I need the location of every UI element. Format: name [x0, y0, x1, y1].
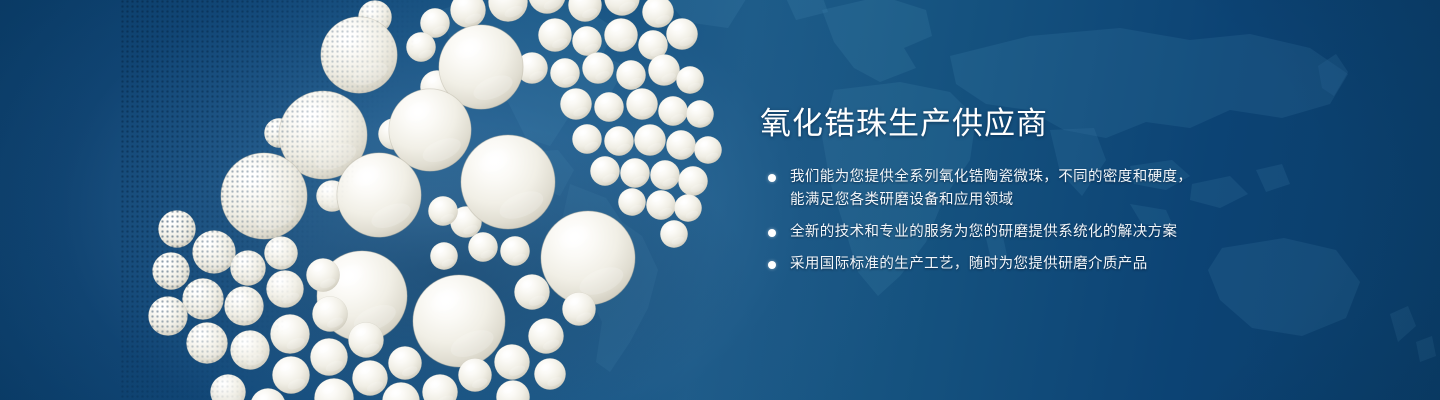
banner-copy-block: 氧化锆珠生产供应商 我们能为您提供全系列氧化锆陶瓷微珠，不同的密度和硬度， 能满… [760, 104, 1380, 276]
bullet-item: 我们能为您提供全系列氧化锆陶瓷微珠，不同的密度和硬度， 能满足您各类研磨设备和应… [760, 166, 1380, 212]
bullet-text-line-1: 我们能为您提供全系列氧化锆陶瓷微珠，不同的密度和硬度， [790, 169, 1192, 185]
banner-headline: 氧化锆珠生产供应商 [760, 104, 1380, 144]
bullet-item: 全新的技术和专业的服务为您的研磨提供系统化的解决方案 [760, 221, 1380, 244]
bullet-text-line-1: 采用国际标准的生产工艺，随时为您提供研磨介质产品 [790, 256, 1148, 272]
hero-banner: 氧化锆珠生产供应商 我们能为您提供全系列氧化锆陶瓷微珠，不同的密度和硬度， 能满… [0, 0, 1440, 400]
bullet-dot-icon [768, 229, 776, 237]
bullet-item: 采用国际标准的生产工艺，随时为您提供研磨介质产品 [760, 253, 1380, 276]
bullet-dot-icon [768, 174, 776, 182]
bullet-text-line-2: 能满足您各类研磨设备和应用领域 [790, 189, 1380, 212]
bullet-dot-icon [768, 261, 776, 269]
bullet-text-line-1: 全新的技术和专业的服务为您的研磨提供系统化的解决方案 [790, 224, 1177, 240]
banner-bullet-list: 我们能为您提供全系列氧化锆陶瓷微珠，不同的密度和硬度， 能满足您各类研磨设备和应… [760, 166, 1380, 276]
